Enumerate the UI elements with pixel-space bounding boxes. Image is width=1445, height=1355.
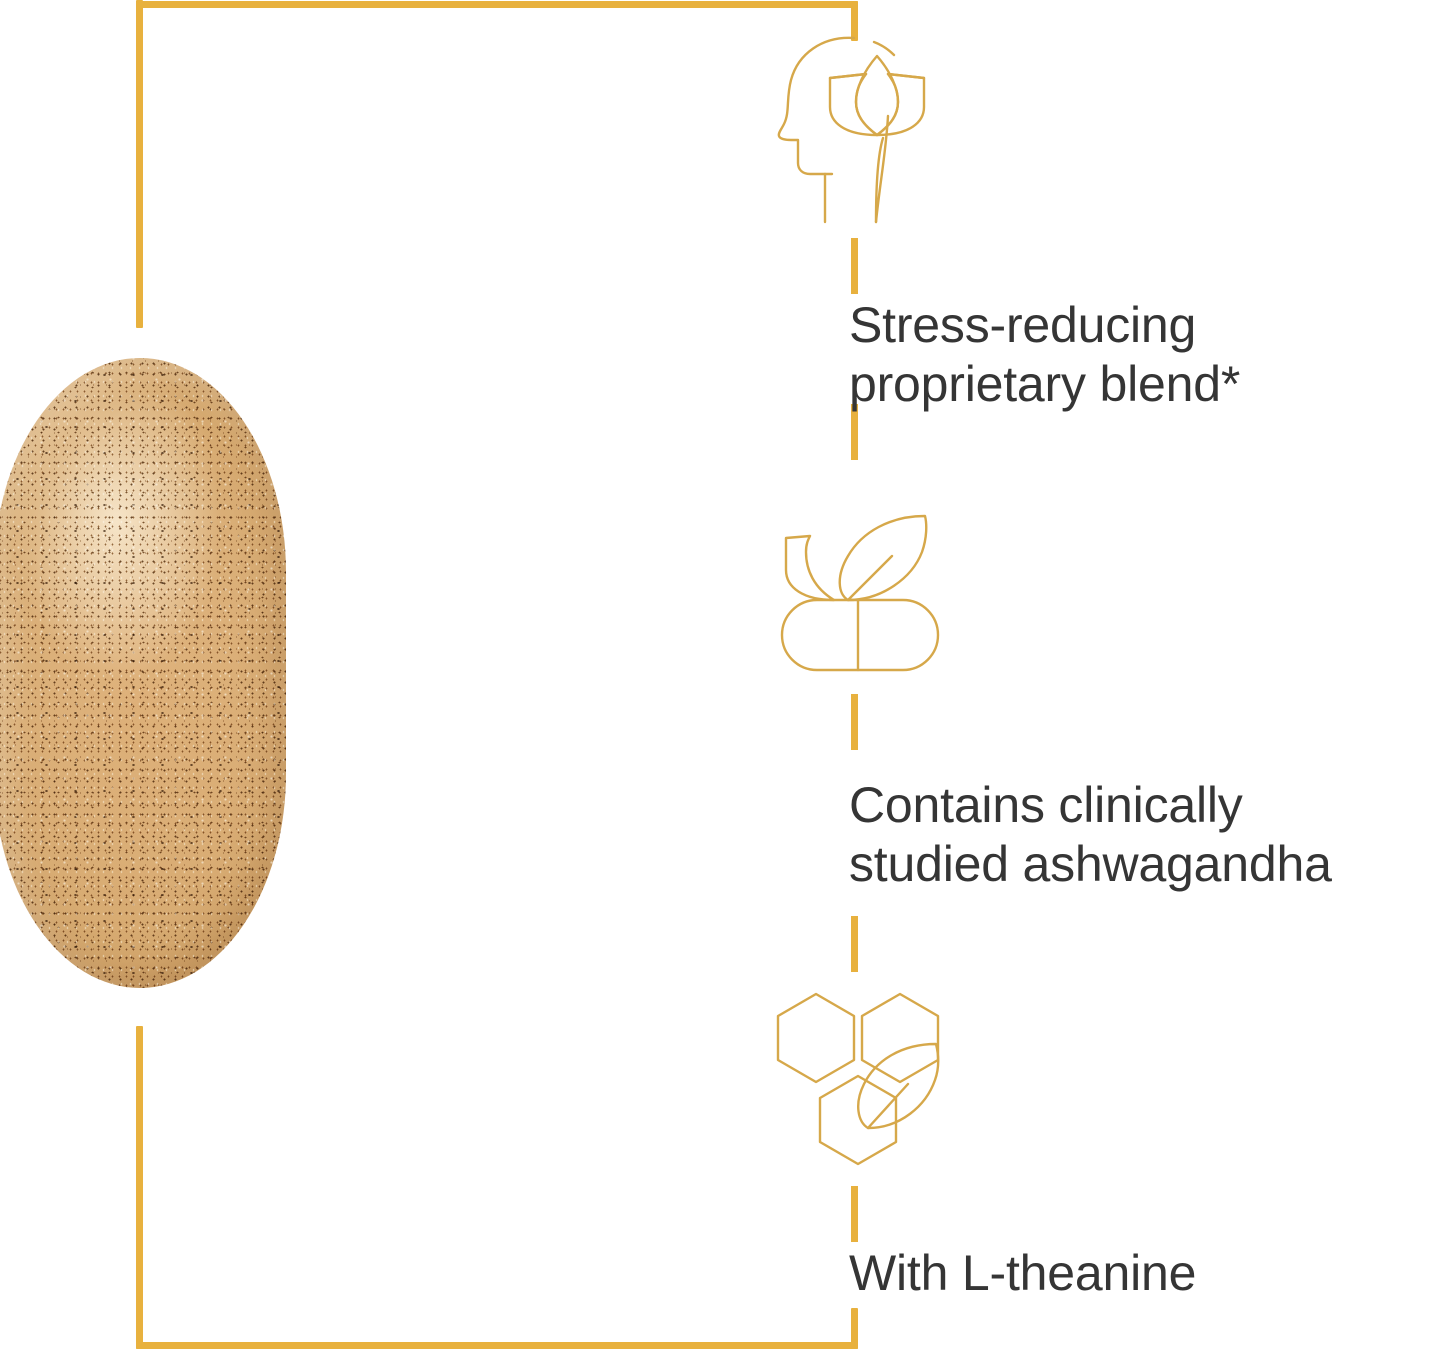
dashed-connector-2 <box>851 404 858 504</box>
bracket-top-horizontal <box>136 1 858 8</box>
head-lotus-icon <box>770 32 950 232</box>
honeycomb-leaf-icon <box>770 988 950 1170</box>
benefit-text-ashwagandha: Contains clinically studied ashwagandha <box>849 776 1445 893</box>
bracket-top-vertical <box>136 0 143 328</box>
benefit-text-theanine: With L-theanine <box>849 1244 1369 1303</box>
tablet-speckle-layer-3 <box>0 358 286 988</box>
bracket-bottom-vertical <box>136 1026 143 1349</box>
bracket-bottom-horizontal <box>136 1342 858 1349</box>
infographic-canvas: Stress-reducing proprietary blend* Conta… <box>0 0 1445 1355</box>
product-tablet-image <box>0 358 286 988</box>
benefit-text-stress: Stress-reducing proprietary blend* <box>849 296 1409 413</box>
capsule-leaves-icon <box>770 508 950 680</box>
bracket-bottom-stub <box>851 1308 858 1349</box>
